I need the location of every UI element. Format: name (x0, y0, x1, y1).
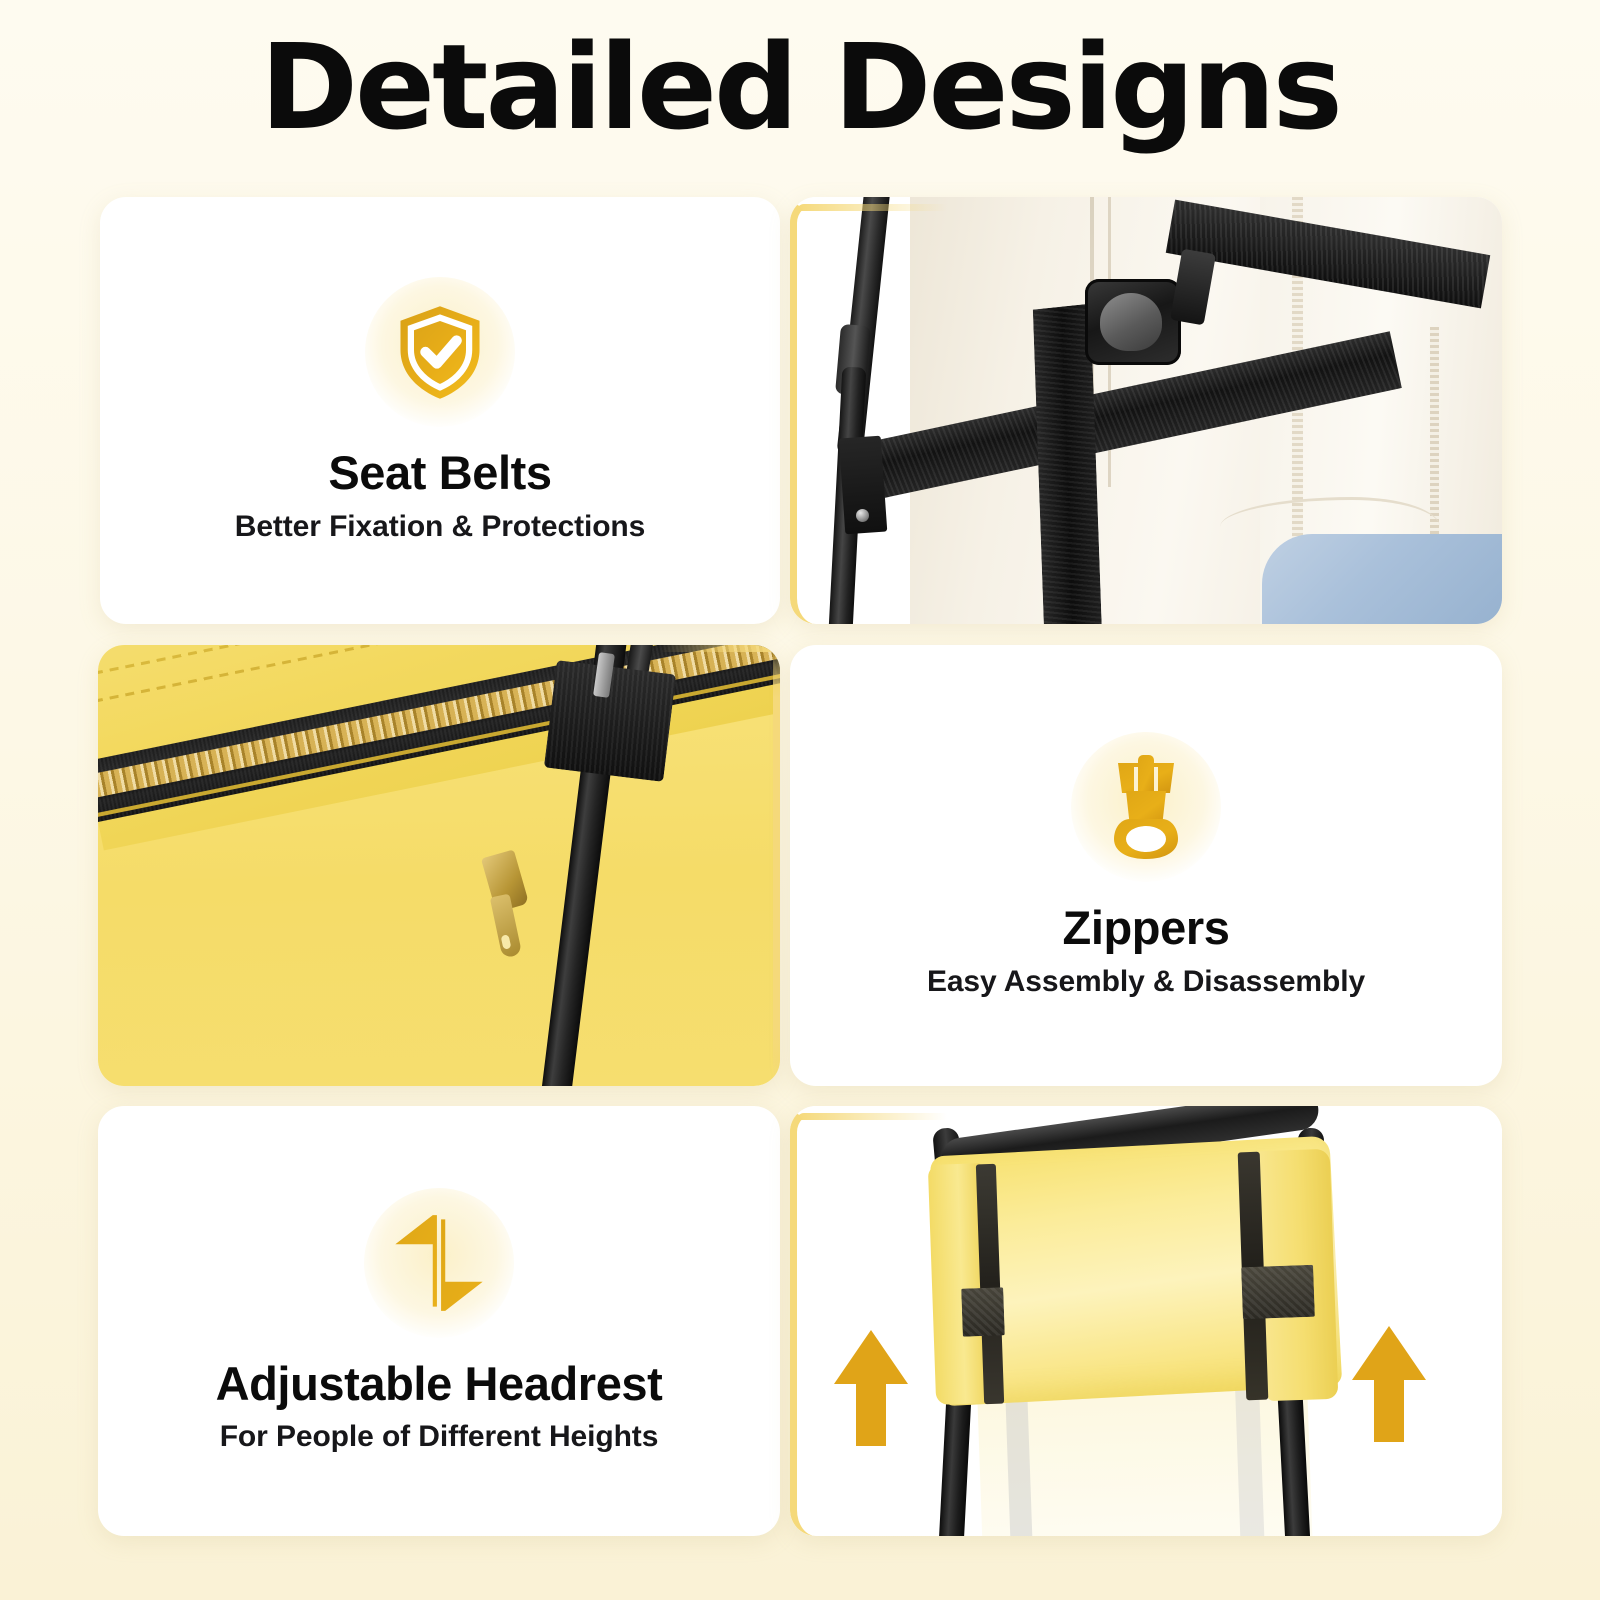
zipper-icon (1096, 753, 1196, 861)
feature-grid: Seat Belts Better Fixation & Protections (0, 0, 1600, 1600)
feature-title: Seat Belts (328, 447, 551, 499)
zipper-photo (98, 645, 780, 1086)
feature-card-adjustable-headrest[interactable]: Adjustable Headrest For People of Differ… (98, 1106, 780, 1536)
zipper-icon-badge (1071, 732, 1221, 882)
feature-title: Zippers (1063, 902, 1230, 954)
shield-check-icon (388, 300, 492, 404)
feature-card-zippers[interactable]: Zippers Easy Assembly & Disassembly (790, 645, 1502, 1086)
feature-card-seat-belts[interactable]: Seat Belts Better Fixation & Protections (100, 197, 780, 624)
feature-title: Adjustable Headrest (216, 1358, 663, 1410)
up-down-arrows-icon (387, 1211, 491, 1315)
arrow-up-icon-left (832, 1328, 910, 1448)
feature-subtitle: Easy Assembly & Disassembly (927, 965, 1365, 999)
feature-subtitle: For People of Different Heights (220, 1420, 659, 1454)
shield-check-icon-badge (365, 277, 515, 427)
seat-belt-photo (790, 197, 1502, 624)
feature-photo-adjustable-headrest[interactable] (790, 1106, 1502, 1536)
up-down-arrows-icon-badge (364, 1188, 514, 1338)
feature-photo-zippers[interactable] (98, 645, 780, 1086)
feature-subtitle: Better Fixation & Protections (235, 510, 646, 544)
feature-photo-seat-belts[interactable] (790, 197, 1502, 624)
headrest-photo (790, 1106, 1502, 1536)
arrow-up-icon-right (1350, 1324, 1428, 1444)
